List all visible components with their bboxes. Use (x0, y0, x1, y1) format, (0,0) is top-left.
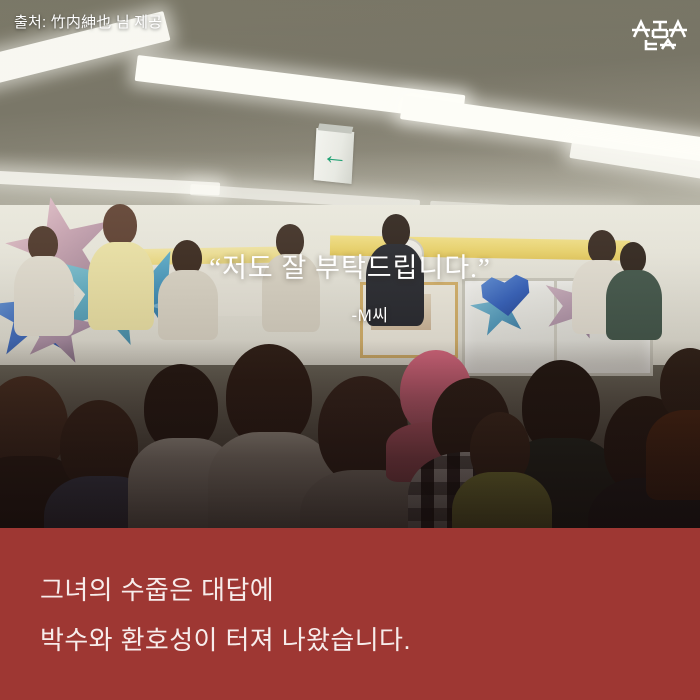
caption-line-1: 그녀의 수줍은 대답에 (40, 570, 274, 607)
crowd-shadow-overlay (0, 340, 700, 528)
exit-arrow-icon: ← (321, 143, 346, 169)
source-credit-label: 출처: 竹内紳也 님 제공 (14, 11, 162, 32)
caption-line-2: 박수와 환호성이 터져 나왔습니다. (40, 620, 411, 657)
caption-band: 그녀의 수줍은 대답에 박수와 환호성이 터져 나왔습니다. (0, 528, 700, 700)
sbs-news-logo (630, 10, 688, 52)
news-card: ← (0, 0, 700, 700)
photo-area: ← (0, 0, 700, 528)
emergency-exit-sign: ← (314, 128, 355, 184)
